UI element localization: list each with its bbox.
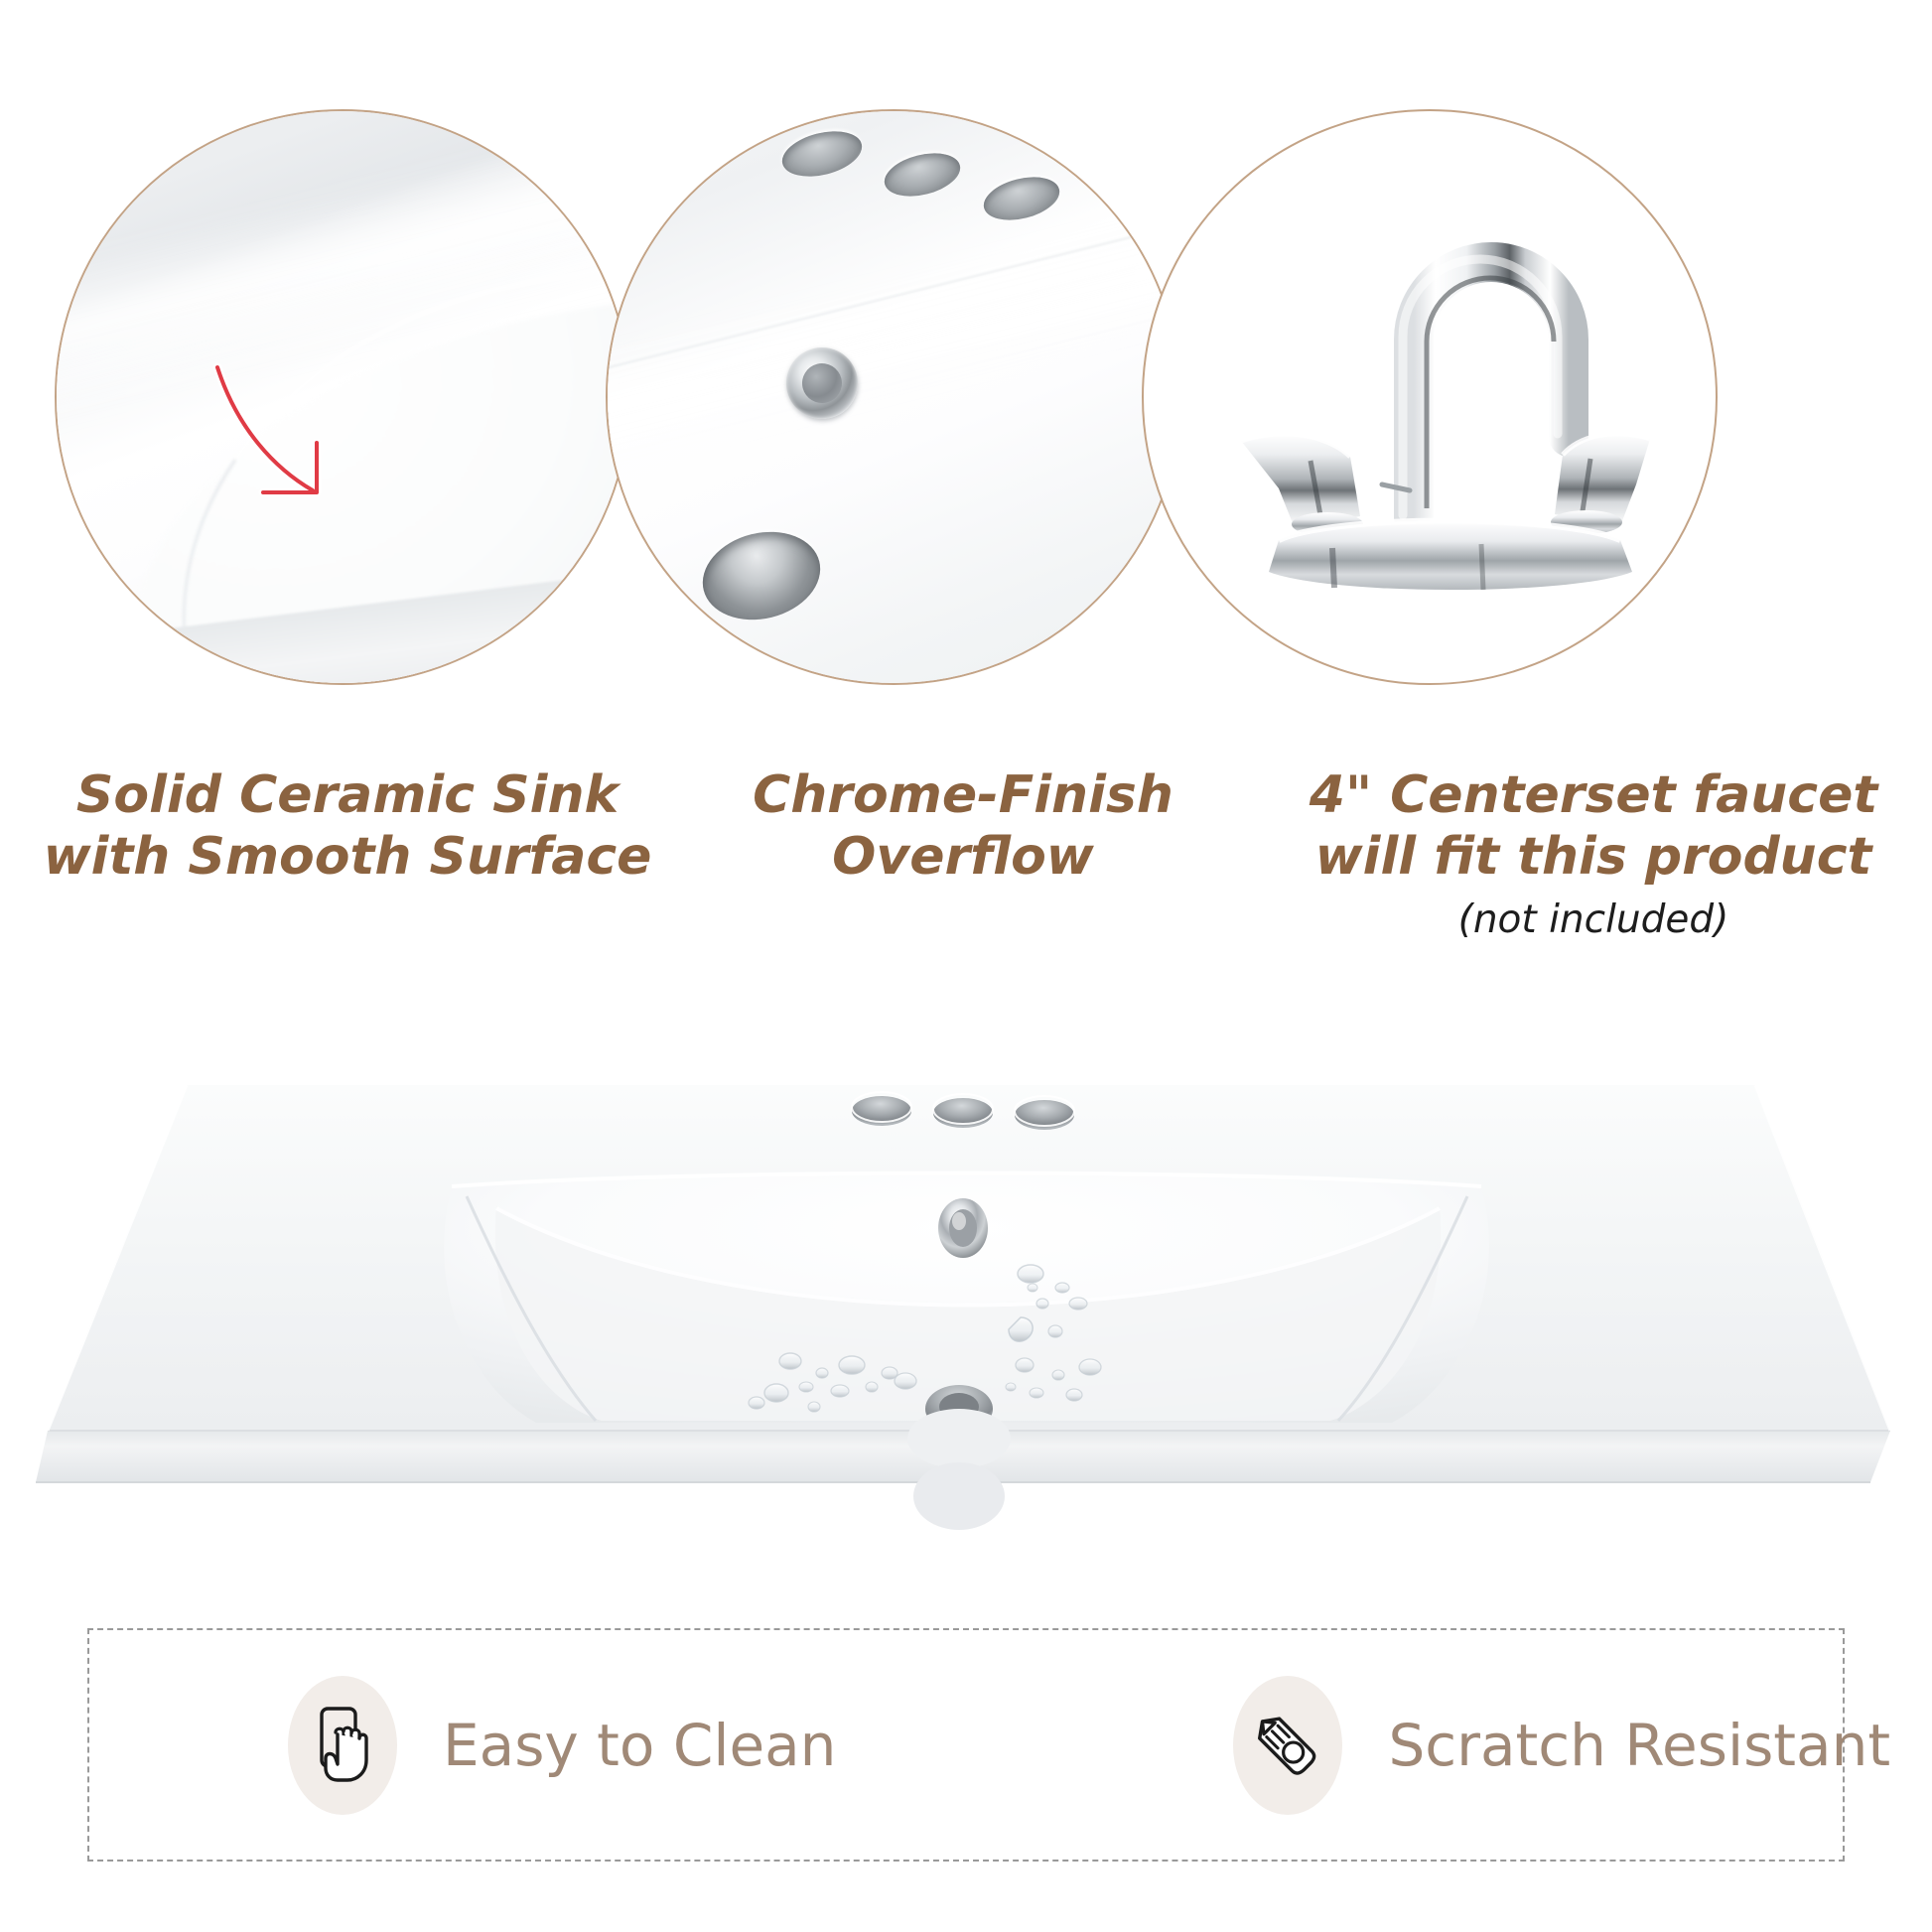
bottom-feature-bar: Easy to Clean Scratch Resistant: [87, 1628, 1845, 1862]
feature-circles-row: [0, 0, 1932, 735]
bottom-feature-scratch-resistant: Scratch Resistant: [1233, 1630, 1890, 1860]
caption-line: Solid Ceramic Sink: [30, 764, 665, 826]
feature-circle-centerset-faucet: [1142, 109, 1718, 685]
caption-ceramic-sink: Solid Ceramic Sink with Smooth Surface: [30, 764, 665, 888]
product-infographic-page: Solid Ceramic Sink with Smooth Surface C…: [0, 0, 1932, 1932]
caption-line: will fit this product: [1271, 826, 1916, 888]
sink-illustration: [0, 1037, 1932, 1554]
feature-label: Scratch Resistant: [1388, 1712, 1890, 1779]
caption-line: Chrome-Finish: [685, 764, 1241, 826]
red-curved-arrow-icon: [206, 359, 394, 548]
product-image-sink: [0, 1037, 1932, 1554]
caption-note: (not included): [1271, 894, 1916, 947]
feature-label: Easy to Clean: [443, 1712, 836, 1779]
caption-line: 4" Centerset faucet: [1271, 764, 1916, 826]
circle-frame: [606, 109, 1181, 685]
hand-wiping-surface-icon: [288, 1676, 397, 1815]
feature-captions: Solid Ceramic Sink with Smooth Surface C…: [0, 764, 1932, 1013]
bottom-feature-easy-to-clean: Easy to Clean: [288, 1630, 836, 1860]
circle-frame: [55, 109, 630, 685]
caption-centerset-faucet: 4" Centerset faucet will fit this produc…: [1271, 764, 1916, 947]
caption-line: Overflow: [685, 826, 1241, 888]
caption-line: with Smooth Surface: [30, 826, 665, 888]
feature-circle-chrome-overflow: [606, 109, 1181, 685]
circle-frame: [1142, 109, 1718, 685]
caption-chrome-overflow: Chrome-Finish Overflow: [685, 764, 1241, 888]
utility-knife-icon: [1233, 1676, 1342, 1815]
feature-circle-ceramic-sink: [55, 109, 630, 685]
chrome-faucet-icon: [1183, 191, 1700, 618]
